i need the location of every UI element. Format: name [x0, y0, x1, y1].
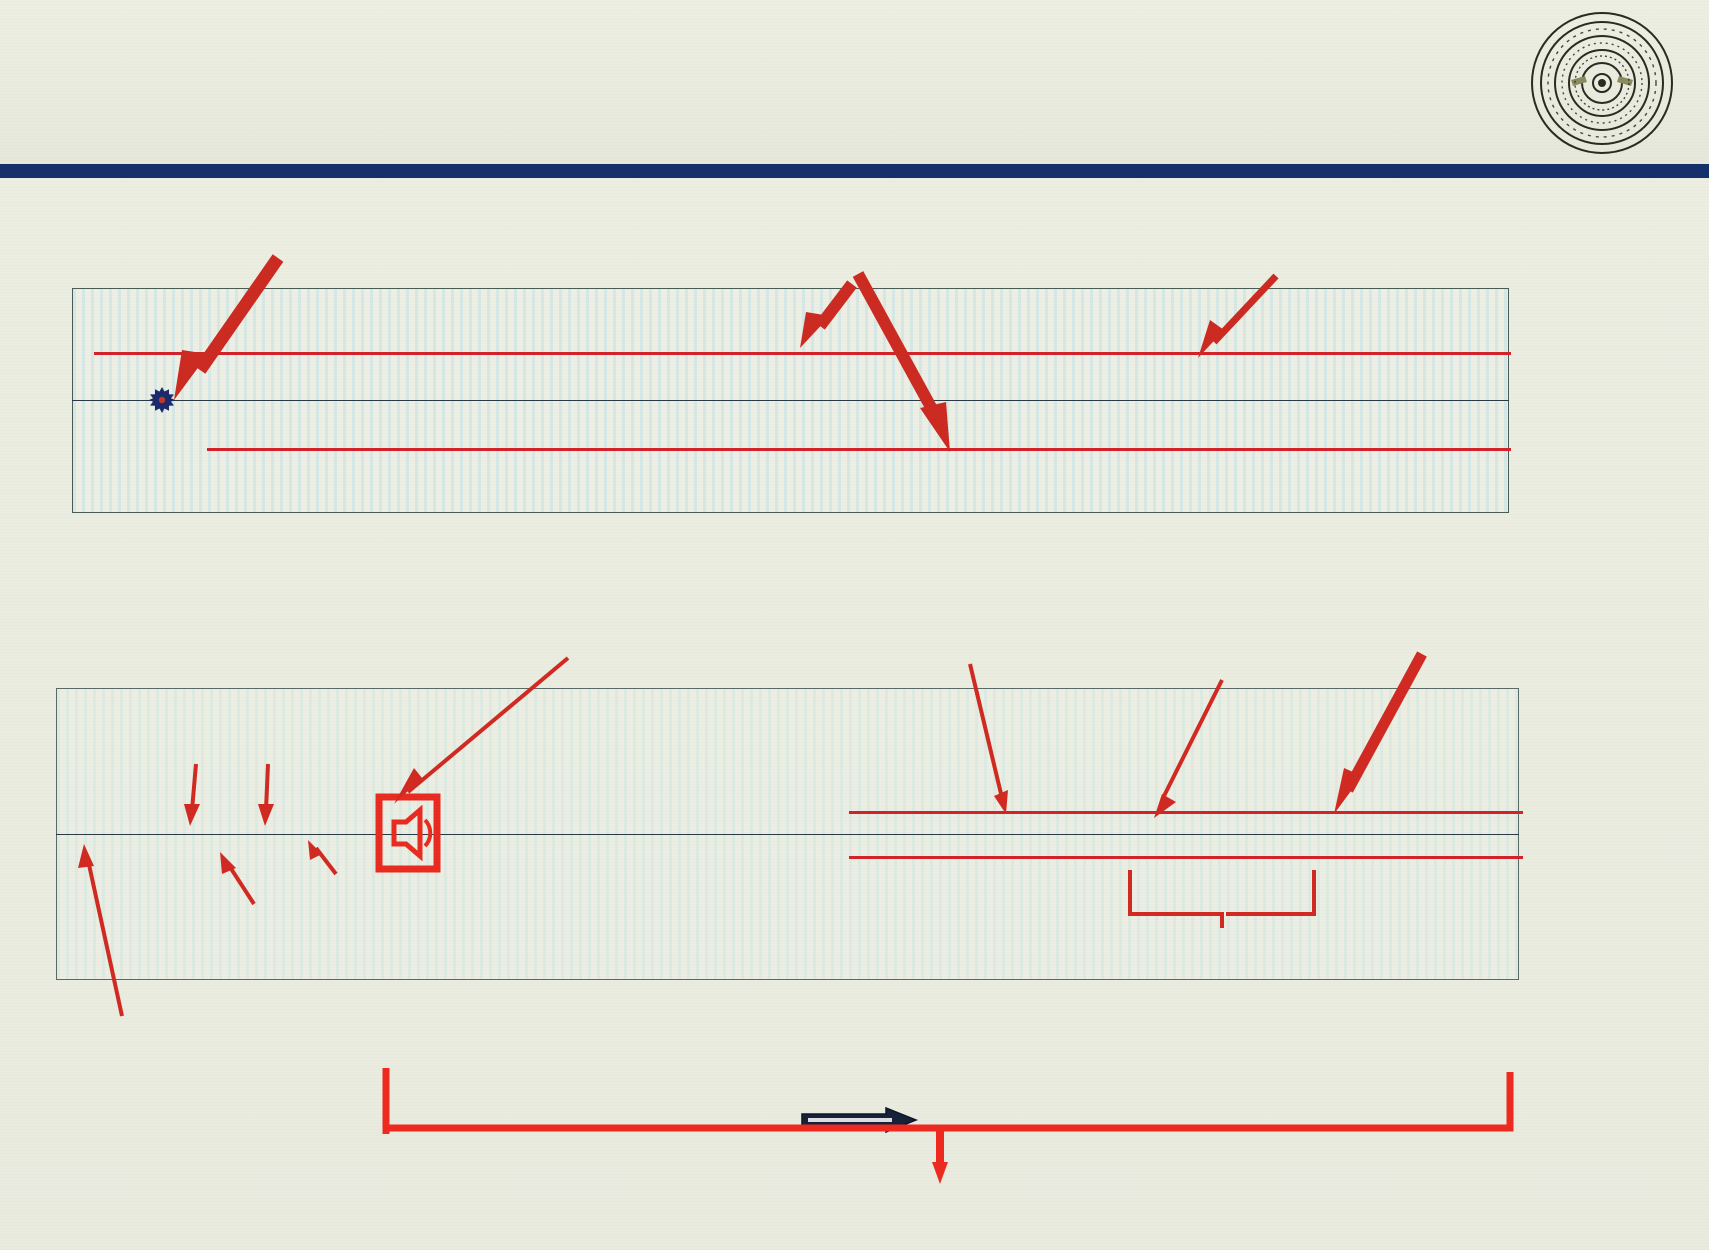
- bottom-chart-x-ticks-top: [56, 688, 1519, 702]
- arrow-shaking-starts: [160, 250, 300, 410]
- arrow-bottom-threshold: [960, 660, 1020, 820]
- bracket-lead-time-onsite: [1126, 868, 1326, 938]
- arrow-third-station: [250, 762, 290, 832]
- arrow-start-of-earthquake: [68, 840, 128, 1030]
- arrow-s-wave-arrival: [1310, 640, 1440, 820]
- iit-roorkee-logo-icon: [1527, 8, 1677, 158]
- top-chart-x-ticks: [72, 499, 1509, 513]
- bottom-chart-x-ticks-bottom: [56, 966, 1519, 980]
- arrow-first-station: [176, 762, 216, 832]
- arrow-top-warning-issued: [1180, 272, 1290, 367]
- bracket-lead-time-regional: [384, 1016, 1514, 1126]
- slide-root: [0, 0, 1709, 1250]
- arrow-regional-warning: [340, 650, 580, 810]
- arrow-top-threshold-lower: [850, 272, 980, 462]
- arrow-fourth-station: [300, 840, 350, 884]
- title-banner: [0, 0, 1709, 178]
- arrow-second-station: [212, 852, 268, 912]
- arrow-onsite-warning-issued: [1126, 676, 1236, 826]
